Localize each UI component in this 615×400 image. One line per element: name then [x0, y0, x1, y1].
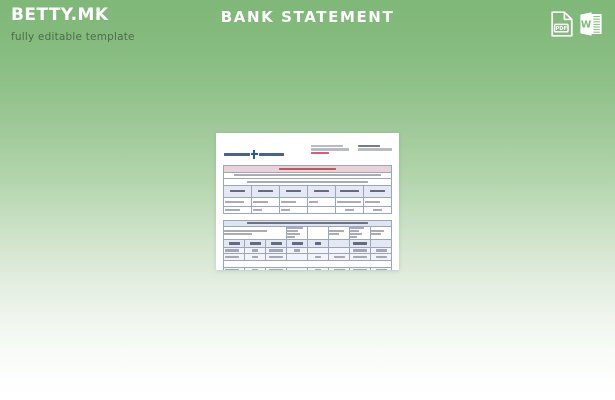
table-row: [224, 260, 392, 267]
brand-tagline: fully editable template: [11, 31, 241, 44]
document-page: [223, 144, 392, 260]
table-row: [224, 227, 392, 240]
table-cell: [287, 227, 308, 240]
table-cell: [308, 227, 329, 240]
company-logo-icon: [224, 150, 284, 159]
letterhead-meta-left: [311, 145, 351, 155]
svg-text:PDF: PDF: [555, 26, 567, 32]
statement-summary-table: [223, 165, 392, 214]
table-cell: [224, 227, 287, 240]
page-title: BANK STATEMENT: [0, 8, 615, 26]
table-row: [224, 240, 392, 248]
format-icons-group: PDF W: [551, 11, 603, 37]
document-preview-card[interactable]: [216, 133, 399, 270]
word-icon[interactable]: W: [579, 11, 603, 37]
table-row: [224, 207, 392, 214]
pdf-icon[interactable]: PDF: [551, 11, 573, 37]
table-row: [224, 267, 392, 270]
table-cell: [329, 227, 350, 240]
table-cell: [371, 227, 392, 240]
document-letterhead: [223, 144, 392, 165]
poster-stage: BETTY.MK fully editable template BANK ST…: [0, 0, 615, 400]
table-row: [224, 197, 392, 207]
table-row: [224, 185, 392, 197]
letterhead-meta-right: [358, 145, 394, 152]
table-cell: [350, 227, 371, 240]
transaction-detail-table: [223, 220, 392, 271]
svg-text:W: W: [581, 20, 592, 31]
